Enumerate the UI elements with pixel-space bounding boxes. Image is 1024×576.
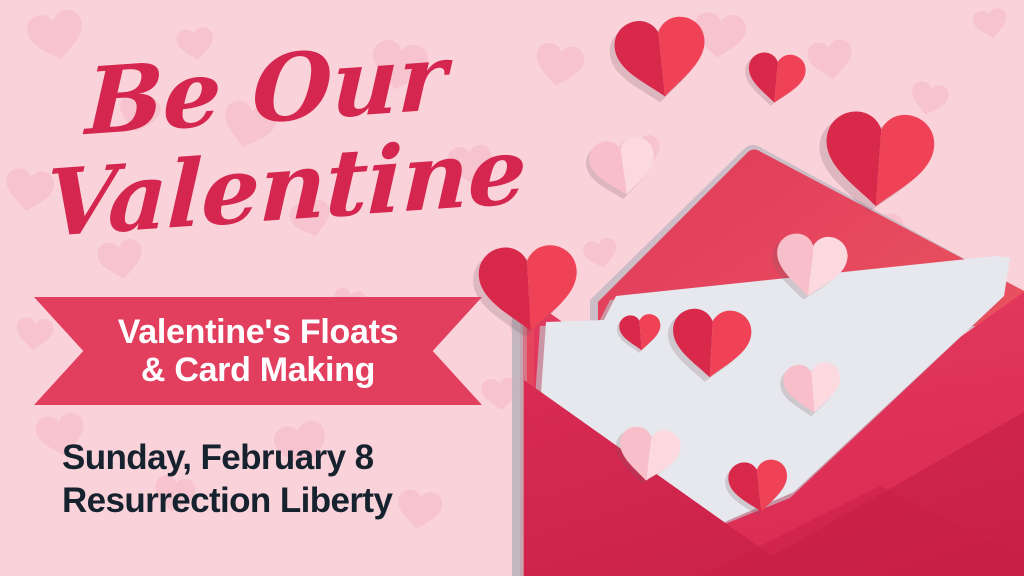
ribbon-line-1: Valentine's Floats — [118, 313, 398, 351]
event-date: Sunday, February 8 — [62, 437, 392, 480]
ribbon-banner: Valentine's Floats & Card Making — [34, 297, 482, 405]
text-block: Be Our Valentine Valentine's Floats & Ca… — [0, 0, 560, 576]
heart-pale-upper-left — [583, 135, 659, 204]
valentine-poster: Be Our Valentine Valentine's Floats & Ca… — [0, 0, 1024, 576]
ribbon-line-2: & Card Making — [141, 351, 375, 389]
heart-top-small — [742, 51, 807, 109]
ribbon-text: Valentine's Floats & Card Making — [34, 297, 482, 405]
heart-top-large — [607, 14, 711, 107]
event-details: Sunday, February 8 Resurrection Liberty — [62, 437, 392, 522]
event-location: Resurrection Liberty — [62, 480, 392, 523]
